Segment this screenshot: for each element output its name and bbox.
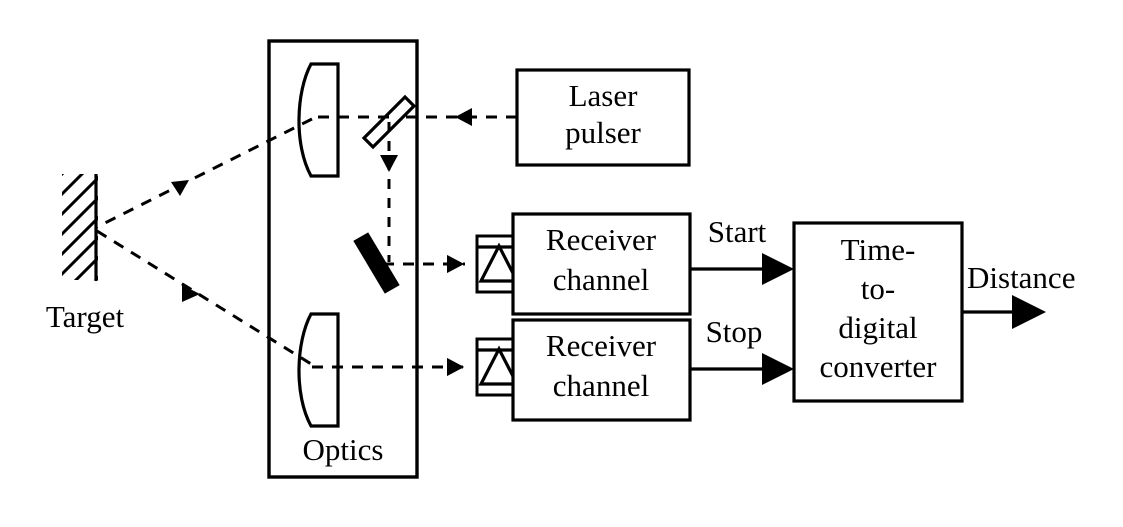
beam-arrow-to-target bbox=[171, 180, 189, 196]
receiver-channel-start-label-line2: channel bbox=[553, 262, 649, 297]
time-to-digital-converter-block[interactable]: Time- to- digital converter bbox=[794, 223, 962, 401]
optics-label: Optics bbox=[303, 432, 384, 467]
tdc-label-line4: converter bbox=[819, 349, 937, 384]
tdc-label-line2: to- bbox=[861, 271, 895, 306]
distance-arrowhead bbox=[1012, 295, 1046, 329]
receiver-channel-stop-label-line2: channel bbox=[553, 368, 649, 403]
beam-arrow-from-target bbox=[182, 285, 200, 302]
laser-pulser-block[interactable]: Laser pulser bbox=[517, 70, 689, 165]
tdc-label-line1: Time- bbox=[841, 232, 916, 267]
laser-pulser-label-line1: Laser bbox=[569, 78, 639, 113]
splitter-to-mirror-beam bbox=[380, 122, 398, 262]
start-signal-label: Start bbox=[708, 214, 767, 249]
photodiode-stop-light-arrow bbox=[447, 358, 464, 376]
receiver-channel-stop-label-line1: Receiver bbox=[546, 328, 657, 363]
stop-arrowhead bbox=[762, 353, 794, 385]
target-hatching bbox=[40, 150, 116, 308]
tdc-label-line3: digital bbox=[838, 310, 917, 345]
transmit-lens bbox=[299, 64, 338, 176]
beam-arrow-left bbox=[455, 108, 472, 126]
receive-lens bbox=[299, 314, 338, 426]
rangefinder-block-diagram: Target Optics bbox=[0, 0, 1123, 527]
target-wall: Target bbox=[40, 150, 124, 334]
distance-output-label: Distance bbox=[967, 260, 1075, 295]
distance-output-connector: Distance bbox=[962, 260, 1075, 329]
stop-signal-label: Stop bbox=[706, 314, 763, 349]
diagram-canvas: Target Optics bbox=[0, 0, 1123, 527]
return-beam-from-target bbox=[97, 231, 465, 376]
transmit-beam-to-target bbox=[97, 117, 389, 227]
start-arrowhead bbox=[762, 253, 794, 285]
beam-arrow-down bbox=[380, 155, 398, 172]
receiver-channel-start-block[interactable]: Receiver channel bbox=[513, 214, 690, 314]
photodiode-start-light-arrow bbox=[447, 255, 464, 273]
target-label: Target bbox=[46, 299, 125, 334]
receiver-channel-stop-block[interactable]: Receiver channel bbox=[513, 320, 690, 420]
stop-signal-connector: Stop bbox=[690, 314, 794, 385]
start-signal-connector: Start bbox=[690, 214, 794, 285]
laser-pulser-label-line2: pulser bbox=[565, 115, 641, 150]
receiver-channel-start-label-line1: Receiver bbox=[546, 222, 657, 257]
